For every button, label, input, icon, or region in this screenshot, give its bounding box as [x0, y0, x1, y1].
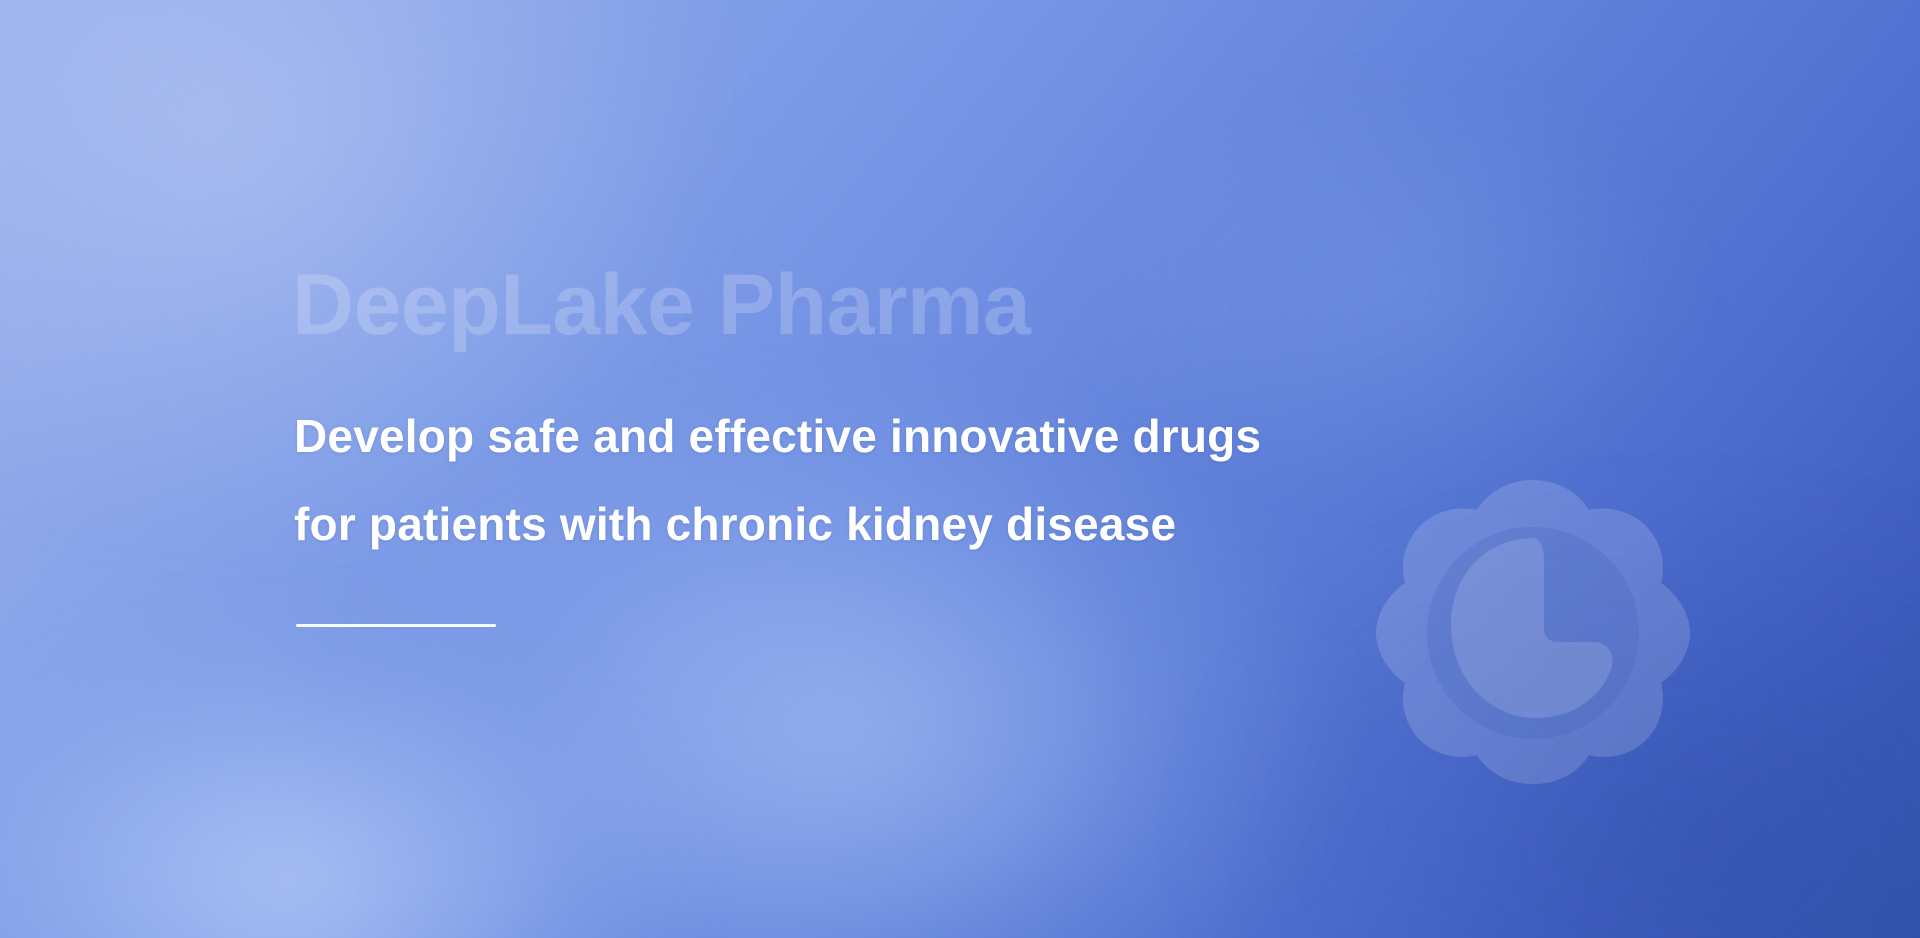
headline-line-2: for patients with chronic kidney disease: [294, 480, 1394, 568]
headline-block: Develop safe and effective innovative dr…: [294, 392, 1394, 568]
brand-watermark: DeepLake Pharma: [292, 262, 1030, 348]
headline-line-1: Develop safe and effective innovative dr…: [294, 392, 1394, 480]
background-glow-bottom-left: [0, 600, 700, 938]
hero-banner: DeepLake Pharma Develop safe and effecti…: [0, 0, 1920, 938]
accent-rule-divider: [296, 624, 496, 627]
kidney-gear-emblem-icon: [1358, 472, 1708, 792]
